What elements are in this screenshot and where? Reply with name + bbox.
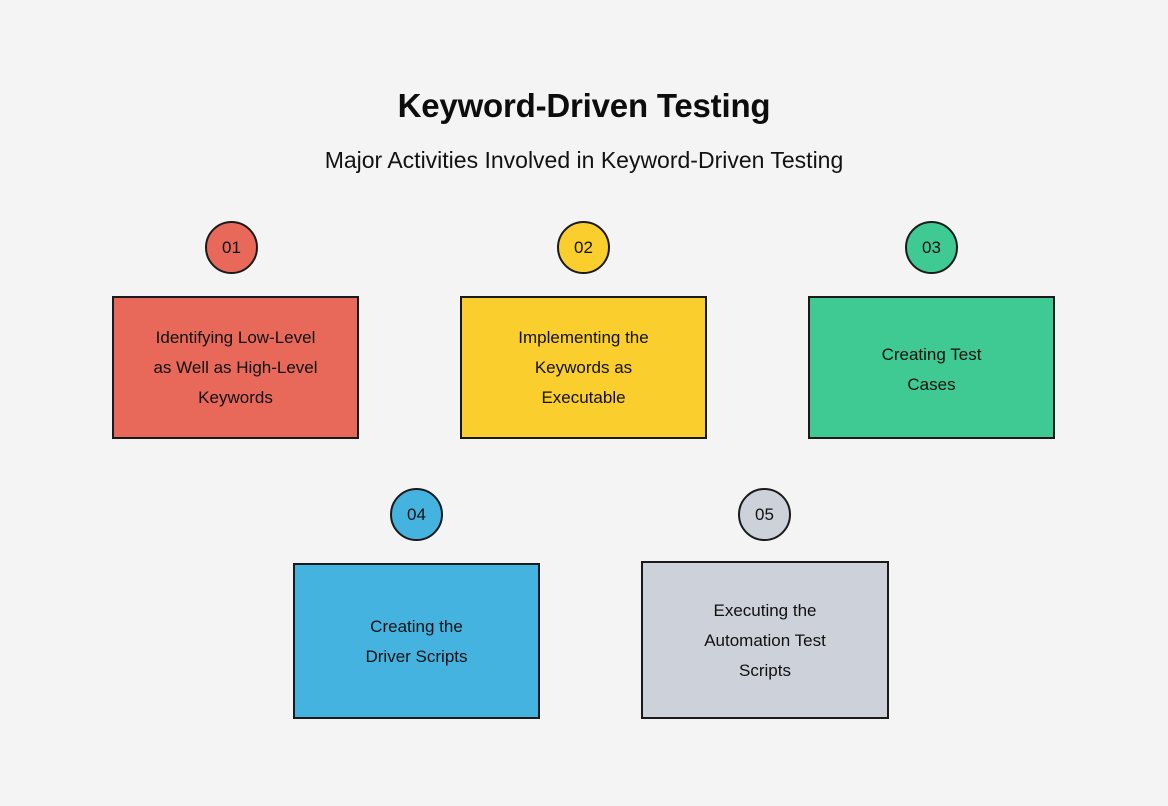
- step-badge-02: 02: [557, 221, 610, 274]
- step-card-04: Creating the Driver Scripts: [293, 563, 540, 719]
- step-card-05: Executing the Automation Test Scripts: [641, 561, 889, 719]
- step-badge-03: 03: [905, 221, 958, 274]
- page-subtitle: Major Activities Involved in Keyword-Dri…: [0, 144, 1168, 176]
- step-badge-01: 01: [205, 221, 258, 274]
- step-badge-04: 04: [390, 488, 443, 541]
- infographic-canvas: Keyword-Driven Testing Major Activities …: [0, 0, 1168, 806]
- step-card-02: Implementing the Keywords as Executable: [460, 296, 707, 439]
- step-card-01: Identifying Low-Level as Well as High-Le…: [112, 296, 359, 439]
- page-title: Keyword-Driven Testing: [0, 84, 1168, 128]
- step-card-03: Creating Test Cases: [808, 296, 1055, 439]
- step-badge-05: 05: [738, 488, 791, 541]
